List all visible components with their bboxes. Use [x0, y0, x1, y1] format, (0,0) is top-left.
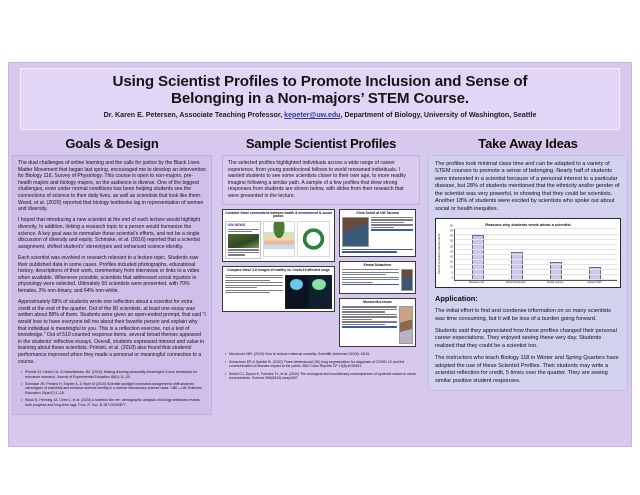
scientist-portrait — [401, 269, 413, 291]
column-heading-takeaway: Take Away Ideas — [428, 136, 628, 151]
profiles-references-list: • McLemore MR. (2019) How to reduce mate… — [222, 352, 420, 380]
chart-gridline — [455, 244, 617, 245]
chart-bars — [455, 229, 617, 280]
column-heading-goals: Goals & Design — [12, 136, 212, 151]
goals-paragraph: I hoped that introducing a new scientist… — [18, 217, 206, 250]
chart-gridline — [455, 264, 617, 265]
reference-item: • Wood S, Henning JA, Chen L, et al. (20… — [18, 398, 206, 407]
scientist-portrait — [399, 306, 413, 344]
chart-gridline — [455, 254, 617, 255]
application-paragraph: The initial effort to find and condense … — [435, 308, 621, 323]
chart-y-tick: 25 — [450, 251, 453, 254]
slide-text-block — [371, 217, 413, 247]
column-heading-profiles: Sample Scientist Profiles — [222, 136, 420, 151]
news-photo — [228, 234, 259, 248]
slide-text-block — [342, 269, 399, 291]
chart-x-tick: Disease Unit — [466, 282, 488, 285]
chart-y-tick: 5 — [452, 272, 454, 275]
chart-title: Reasons why students wrote about a scien… — [439, 222, 617, 227]
chart-y-tick-labels: 05101520253035404550 — [445, 229, 454, 281]
chart-x-tick: Career Path — [583, 282, 605, 285]
chart-x-tick-labels: Disease UnitEthnicity/GenderSocial Justi… — [439, 281, 617, 285]
byline-suffix: , Department of Biology, University of W… — [341, 111, 537, 119]
chart-y-tick: 15 — [450, 262, 453, 265]
chart-y-tick: 30 — [450, 246, 453, 249]
poster-title-line-1: Using Scientist Profiles to Promote Incl… — [21, 73, 619, 90]
slide-content — [342, 217, 413, 247]
reference-text: Wood S, Henning JA, Chen L, et al. (2020… — [25, 398, 206, 407]
chart-gridline — [455, 249, 617, 250]
ecosystem-layers-diagram — [263, 221, 295, 257]
reasons-bar-chart: Reasons why students wrote about a scien… — [435, 218, 621, 288]
slides-column-right: Chris Schell at UW Tacoma — [339, 209, 416, 348]
reference-item: • Schinske JN, Perkins H, Snyder A, & Wy… — [18, 382, 206, 395]
chart-y-tick: 35 — [450, 241, 453, 244]
chart-gridline — [455, 228, 617, 229]
takeaway-paragraph: The profiles took minimal class time and… — [435, 161, 621, 213]
goals-body-text: The dual challenges of online learning a… — [18, 160, 206, 365]
slide-title: Compare these 3-D images of healthy vs. … — [225, 269, 332, 273]
slide-title: Emma Schachner — [342, 264, 413, 268]
reference-text: Schell CJ, Dyson K, Fuentes TL, et al. (… — [229, 372, 420, 381]
scientist-portrait — [342, 217, 369, 247]
reference-text: Priniski SJ, Hecht CA, & Harackiewicz JM… — [25, 370, 206, 379]
slides-column-left: Consider these connections between healt… — [222, 209, 335, 348]
slide-monica-mclemore[interactable]: Monica McLemore — [339, 298, 416, 347]
reference-text: McLemore MR. (2019) How to reduce matern… — [229, 352, 420, 356]
chart-y-tick: 0 — [452, 277, 454, 280]
slide-title: Consider these connections between healt… — [225, 212, 332, 220]
chart-y-tick: 10 — [450, 267, 453, 270]
reference-item: • Priniski SJ, Hecht CA, & Harackiewicz … — [18, 370, 206, 379]
bullet-icon: • — [222, 372, 229, 381]
chart-gridline — [455, 274, 617, 275]
slide-emma-schachner[interactable]: Emma Schachner — [339, 261, 416, 294]
profiles-body-text: The selected profiles highlighted indivi… — [228, 160, 414, 200]
uw-news-clipping: UW NEWS — [225, 221, 261, 260]
chart-gridline — [455, 259, 617, 260]
author-email-link[interactable]: kepeter@uw.edu — [284, 111, 340, 119]
chart-bars-region — [454, 229, 617, 281]
bullet-icon: • — [222, 352, 229, 356]
chart-x-tick: Ethnicity/Gender — [505, 282, 527, 285]
reference-item: • McLemore MR. (2019) How to reduce mate… — [222, 352, 420, 356]
chart-gridline — [455, 279, 617, 280]
slide-title: Chris Schell at UW Tacoma — [342, 212, 413, 216]
chart-y-tick: 20 — [450, 257, 453, 260]
chart-bar — [511, 252, 523, 281]
chart-plot-area: Percent of student reflection items 0510… — [439, 229, 617, 281]
poster-byline: Dr. Karen E. Petersen, Associate Teachin… — [21, 111, 619, 119]
slide-content — [225, 275, 332, 309]
bullet-icon: • — [222, 360, 229, 369]
globe-diagram — [297, 221, 329, 257]
application-block: Application: The initial effort to find … — [435, 294, 621, 385]
profiles-text-panel: The selected profiles highlighted indivi… — [222, 155, 420, 205]
slide-health-justice[interactable]: Consider these connections between healt… — [222, 209, 335, 263]
bullet-icon: • — [18, 398, 25, 407]
takeaway-text-panel: The profiles took minimal class time and… — [428, 155, 628, 391]
slide-text-block — [342, 306, 397, 344]
slide-ct-lungs[interactable]: Compare these 3-D images of healthy vs. … — [222, 266, 335, 311]
chart-y-tick: 50 — [450, 225, 453, 228]
bullet-icon: • — [18, 382, 25, 395]
slide-content — [342, 306, 413, 344]
column-take-away-ideas: Take Away Ideas The profiles took minima… — [428, 136, 628, 391]
chart-y-tick: 45 — [450, 231, 453, 234]
application-paragraph: Students said they appreciated how these… — [435, 328, 621, 350]
byline-prefix: Dr. Karen E. Petersen, Associate Teachin… — [104, 111, 285, 119]
poster-title-banner: Using Scientist Profiles to Promote Incl… — [20, 68, 620, 130]
reference-item: • Schachner ER & Spiekle B. (2020) Three… — [222, 360, 420, 369]
profiles-paragraph: The selected profiles highlighted indivi… — [228, 160, 414, 200]
ct-lung-scan-image — [285, 275, 332, 309]
reference-item: • Schell CJ, Dyson K, Fuentes TL, et al.… — [222, 372, 420, 381]
slide-content — [342, 269, 413, 291]
goals-text-panel: The dual challenges of online learning a… — [12, 155, 212, 415]
slide-chris-schell[interactable]: Chris Schell at UW Tacoma — [339, 209, 416, 257]
chart-x-tick: Social Justice — [544, 282, 566, 285]
chart-gridline — [455, 234, 617, 235]
application-heading: Application: — [435, 294, 621, 304]
slide-text-block — [225, 275, 283, 309]
reference-text: Schinske JN, Perkins H, Snyder A, & Wyer… — [25, 382, 206, 395]
chart-y-tick: 40 — [450, 236, 453, 239]
goals-references-list: • Priniski SJ, Hecht CA, & Harackiewicz … — [18, 370, 206, 407]
goals-paragraph: The dual challenges of online learning a… — [18, 160, 206, 213]
poster-canvas: Using Scientist Profiles to Promote Incl… — [0, 0, 640, 495]
goals-paragraph: Each scientist was involved in research … — [18, 255, 206, 295]
takeaway-body-text: The profiles took minimal class time and… — [435, 161, 621, 213]
slide-title: Monica McLemore — [342, 301, 413, 305]
goals-paragraph: Approximately 68% of students wrote one … — [18, 299, 206, 365]
poster-title-line-2: Belonging in a Non-majors’ STEM Course. — [21, 90, 619, 107]
chart-gridline — [455, 269, 617, 270]
uw-news-logo: UW NEWS — [228, 223, 259, 227]
column-sample-profiles: Sample Scientist Profiles The selected p… — [222, 136, 420, 384]
profile-slides-grid: Consider these connections between healt… — [222, 209, 420, 348]
slide-content: UW NEWS — [225, 221, 332, 260]
application-paragraph: The instructors who teach Biology 118 in… — [435, 355, 621, 385]
bullet-icon: • — [18, 370, 25, 379]
column-goals-design: Goals & Design The dual challenges of on… — [12, 136, 212, 415]
chart-gridline — [455, 239, 617, 240]
reference-text: Schachner ER & Spiekle B. (2020) Three-d… — [229, 360, 420, 369]
